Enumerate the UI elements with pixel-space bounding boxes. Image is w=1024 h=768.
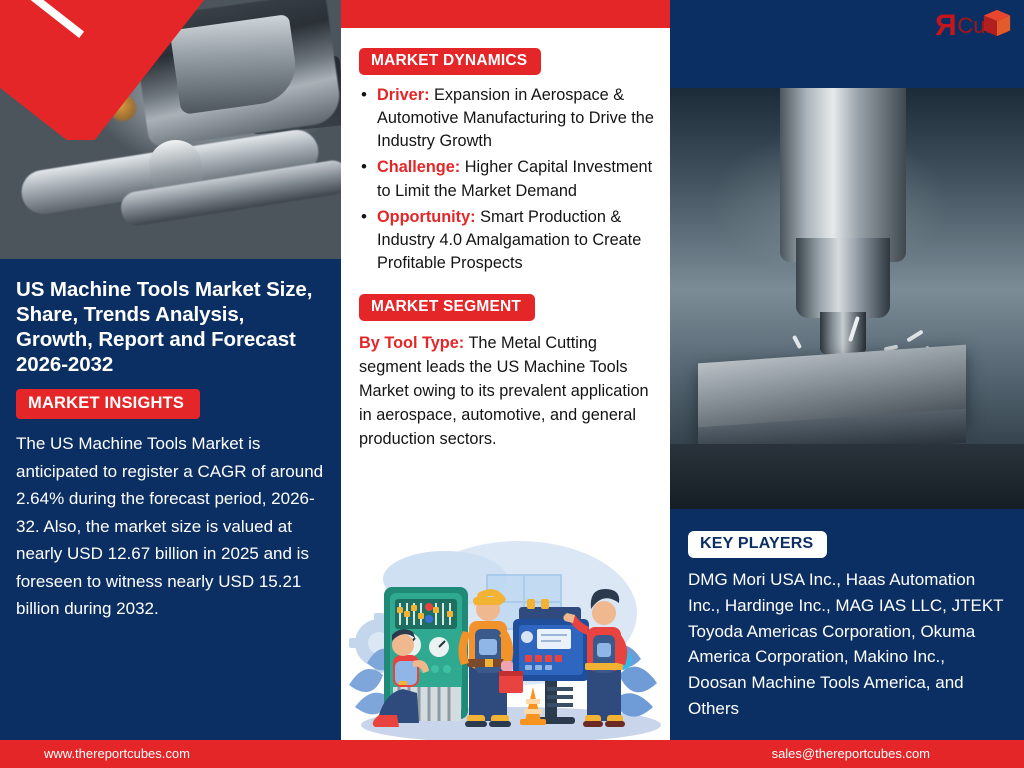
right-panel-body: KEY PLAYERS DMG Mori USA Inc., Haas Auto… (670, 509, 1024, 722)
factory-workers-control-panel-illustration (341, 535, 670, 740)
key-players-badge: KEY PLAYERS (688, 531, 827, 558)
segment-label: By Tool Type: (359, 334, 464, 352)
cnc-milling-spindle-photo (670, 88, 1024, 509)
left-panel: US Machine Tools Market Size, Share, Tre… (0, 0, 341, 740)
infographic-page: US Machine Tools Market Size, Share, Tre… (0, 0, 1024, 768)
page-title: US Machine Tools Market Size, Share, Tre… (16, 277, 325, 377)
logo-mark: R (935, 11, 957, 41)
footer-email-link[interactable]: sales@thereportcubes.com (772, 746, 930, 761)
list-item: Opportunity: Smart Production & Industry… (359, 206, 654, 275)
driver-label: Driver: (377, 86, 430, 104)
list-item: Driver: Expansion in Aerospace & Automot… (359, 84, 654, 153)
list-item: Challenge: Higher Capital Investment to … (359, 156, 654, 202)
footer-bar: www.thereportcubes.com sales@thereportcu… (0, 740, 1024, 768)
market-dynamics-badge: MARKET DYNAMICS (359, 48, 541, 75)
market-segment-section: MARKET SEGMENT By Tool Type: The Metal C… (359, 294, 654, 452)
challenge-label: Challenge: (377, 158, 460, 176)
market-dynamics-list: Driver: Expansion in Aerospace & Automot… (359, 84, 654, 275)
cube-icon (982, 8, 1012, 38)
key-players-text: DMG Mori USA Inc., Haas Automation Inc.,… (688, 567, 1006, 722)
left-panel-body: US Machine Tools Market Size, Share, Tre… (0, 259, 341, 623)
brand-logo[interactable]: R Cube (935, 6, 1010, 46)
cnc-lathe-machining-photo (0, 0, 341, 259)
footer-website-link[interactable]: www.thereportcubes.com (44, 746, 190, 761)
market-insights-text: The US Machine Tools Market is anticipat… (16, 430, 325, 623)
right-panel: R Cube KEY PLAYERS DMG Mori (670, 0, 1024, 740)
middle-top-red-bar (341, 0, 670, 28)
opportunity-label: Opportunity: (377, 208, 476, 226)
market-insights-badge: MARKET INSIGHTS (16, 389, 200, 419)
middle-panel: MARKET DYNAMICS Driver: Expansion in Aer… (341, 0, 670, 740)
market-segment-body: By Tool Type: The Metal Cutting segment … (359, 332, 654, 452)
middle-panel-body: MARKET DYNAMICS Driver: Expansion in Aer… (341, 28, 670, 452)
market-segment-badge: MARKET SEGMENT (359, 294, 535, 321)
